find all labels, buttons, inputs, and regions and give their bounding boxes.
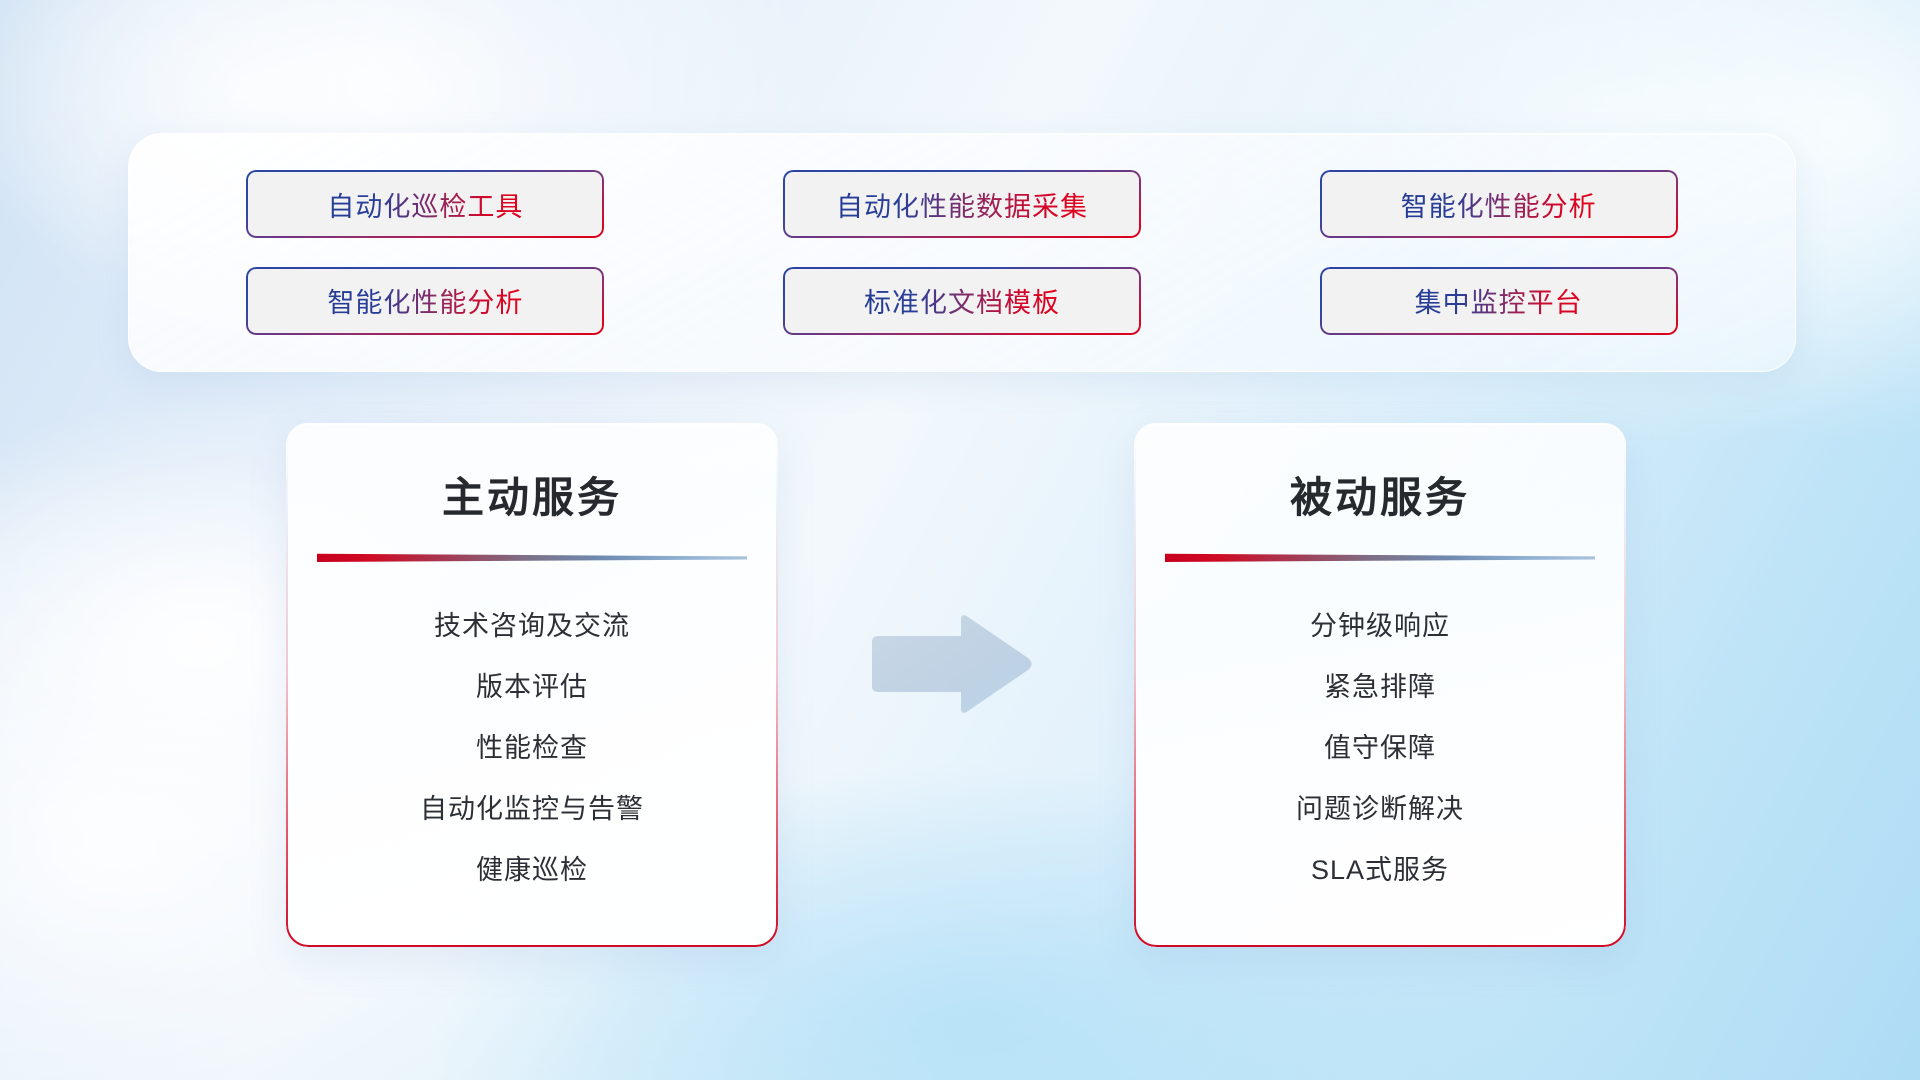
service-list-item: 性能检查: [286, 718, 778, 779]
divider-taper-shape: [317, 553, 747, 562]
card-title: 主动服务: [286, 464, 778, 525]
service-list-item: 值守保障: [1134, 718, 1626, 779]
card-divider: [1165, 553, 1595, 562]
divider-taper-shape: [1165, 553, 1595, 562]
service-item-list: 分钟级响应 紧急排障 值守保障 问题诊断解决 SLA式服务: [1134, 596, 1626, 901]
service-card-active[interactable]: 主动服务 技术咨询及交流 版本评估 性能检查 自动化监控与告警 健康巡检: [286, 423, 778, 947]
capability-pill-label: 智能化性能分析: [1401, 185, 1597, 224]
capability-pill-2[interactable]: 自动化性能数据采集: [783, 170, 1141, 238]
capability-pill-1[interactable]: 自动化巡检工具: [246, 170, 604, 238]
capability-pill-label: 集中监控平台: [1415, 281, 1583, 320]
service-item-list: 技术咨询及交流 版本评估 性能检查 自动化监控与告警 健康巡检: [286, 596, 778, 901]
capability-pill-label: 标准化文档模板: [864, 281, 1060, 320]
service-list-item: 版本评估: [286, 657, 778, 718]
slide-canvas: 自动化巡检工具 自动化性能数据采集 智能化性能分析 智能化性能分析 标准化文档模…: [0, 0, 1920, 1080]
capability-pill-label: 自动化性能数据采集: [836, 185, 1088, 224]
capability-panel: 自动化巡检工具 自动化性能数据采集 智能化性能分析 智能化性能分析 标准化文档模…: [128, 133, 1796, 372]
card-divider: [317, 553, 747, 562]
arrow-right-icon: [866, 610, 1036, 718]
capability-pill-3[interactable]: 智能化性能分析: [1320, 170, 1678, 238]
card-title: 被动服务: [1134, 464, 1626, 525]
service-list-item: 健康巡检: [286, 840, 778, 901]
service-list-item: 分钟级响应: [1134, 596, 1626, 657]
service-list-item: SLA式服务: [1134, 840, 1626, 901]
service-list-item: 紧急排障: [1134, 657, 1626, 718]
service-list-item: 技术咨询及交流: [286, 596, 778, 657]
capability-pill-label: 自动化巡检工具: [327, 185, 523, 224]
capability-pill-label: 智能化性能分析: [327, 281, 523, 320]
service-list-item: 自动化监控与告警: [286, 779, 778, 840]
capability-pill-5[interactable]: 标准化文档模板: [783, 267, 1141, 335]
service-list-item: 问题诊断解决: [1134, 779, 1626, 840]
service-card-passive[interactable]: 被动服务 分钟级响应 紧急排障 值守保障 问题诊断解决 SLA式服务: [1134, 423, 1626, 947]
capability-pill-4[interactable]: 智能化性能分析: [246, 267, 604, 335]
capability-pill-6[interactable]: 集中监控平台: [1320, 267, 1678, 335]
